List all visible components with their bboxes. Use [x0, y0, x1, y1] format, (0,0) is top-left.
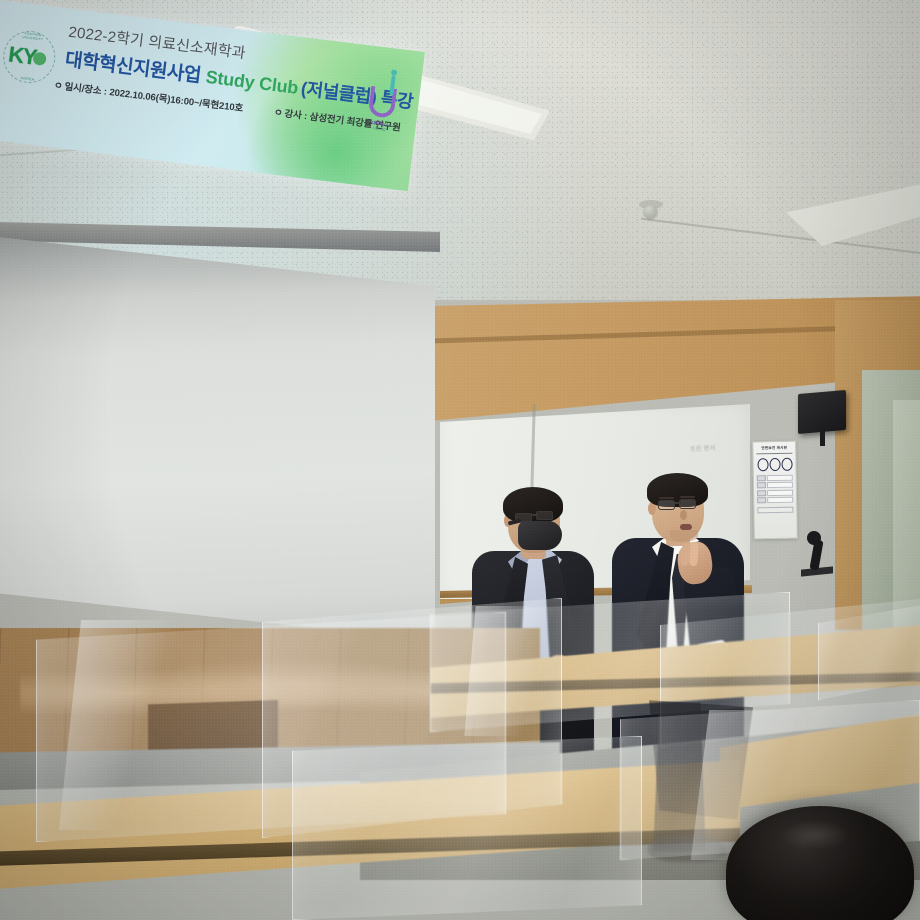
- poster-rings-graphic: [756, 457, 792, 471]
- slide-bullet-2: ㅇ: [273, 107, 283, 119]
- logo-mark-text: KY: [7, 42, 54, 73]
- poster-row: [757, 489, 793, 496]
- university-innovation-support-logo: 대학혁신 지원사업: [357, 85, 404, 147]
- logo-u-shape: [368, 86, 397, 119]
- presenter-left-hair: [503, 487, 563, 523]
- lecture-hall-photo: 흐린 판서 안전보건 게시판 KONYANG UNIVERS: [0, 0, 920, 920]
- ceiling-sprinkler-icon: [644, 205, 657, 218]
- audience-hair-highlight: [780, 820, 850, 850]
- poster-ring: [769, 457, 780, 470]
- konyang-university-logo: KONYANG UNIVERSITY KY KOREA: [0, 28, 58, 86]
- poster-row: [757, 497, 793, 504]
- slide-title-english: Study Club: [205, 67, 300, 98]
- poster-row: [757, 482, 793, 489]
- wall-poster[interactable]: 안전보건 게시판: [752, 441, 798, 540]
- presenter-right-nose: [680, 510, 687, 520]
- presenter-left-face-mask: [518, 521, 562, 550]
- poster-title: 안전보건 게시판: [756, 446, 792, 454]
- logo-accent-dot: [391, 69, 398, 76]
- presenter-right-chin: [670, 530, 698, 542]
- presenter-right-glasses-lens: [658, 500, 675, 510]
- poster-table: [757, 474, 793, 503]
- projection-screen: [0, 236, 435, 641]
- presenter-right-glasses-bridge: [674, 502, 681, 504]
- presenter-left-glasses-bridge: [531, 514, 538, 516]
- presenter-right-finger: [689, 542, 699, 566]
- presenter-left-glasses-lens: [536, 511, 553, 520]
- poster-row: [757, 474, 793, 481]
- speaker-bracket: [820, 428, 825, 446]
- whiteboard-handwriting: 흐린 판서: [690, 442, 735, 458]
- acrylic-covid-divider: [292, 736, 642, 920]
- poster-ring: [781, 457, 792, 470]
- slide-when-label: 일시/장소 :: [64, 82, 108, 98]
- slide-bullet-1: ㅇ: [53, 80, 63, 92]
- slide-who-label: 강사 :: [284, 109, 308, 123]
- slide-when-value: 2022.10.06(목)16:00~/묵현210호: [109, 87, 244, 114]
- poster-ring: [757, 458, 768, 471]
- presenter-right-glasses-lens: [679, 499, 696, 509]
- poster-footer: [757, 507, 793, 514]
